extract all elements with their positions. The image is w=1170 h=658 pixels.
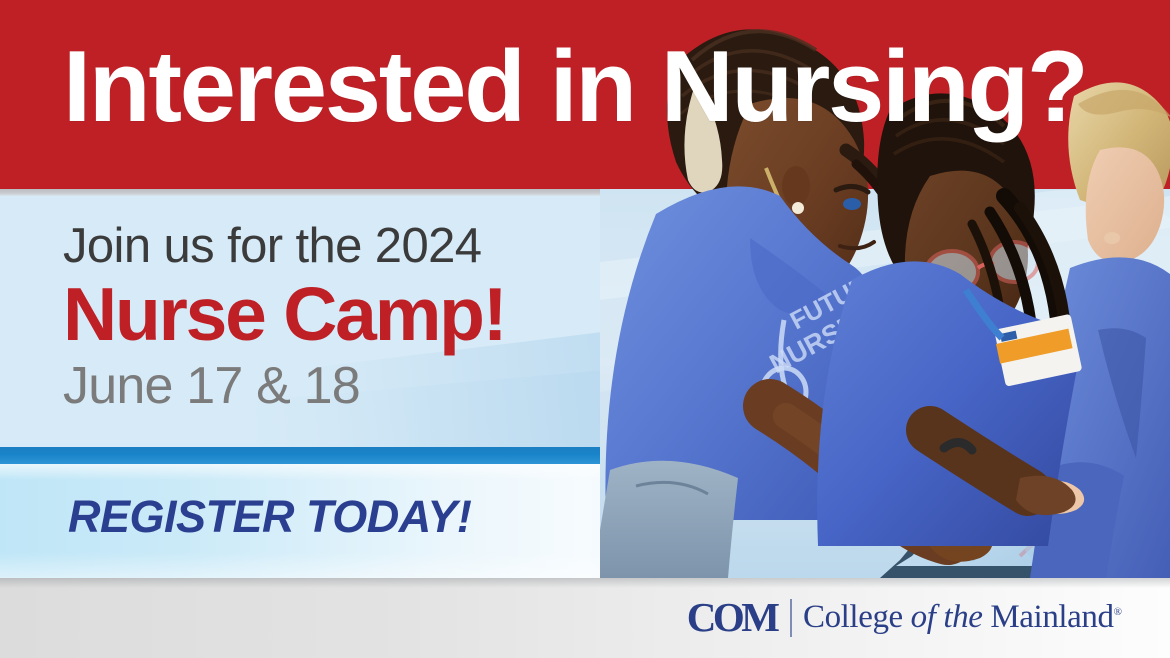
event-intro-line: Join us for the 2024 [63,222,506,271]
college-of-the-mainland-logo: COM College of the Mainland® [687,597,1122,638]
register-today-cta[interactable]: REGISTER TODAY! [68,491,471,543]
com-monogram: COM [687,597,777,638]
logo-wordmark: College of the Mainland® [803,601,1122,634]
page-title: Interested in Nursing? [63,34,1086,140]
logo-wordmark-mainland: Mainland [990,599,1113,635]
event-details: Join us for the 2024 Nurse Camp! June 17… [63,222,506,412]
logo-divider [790,599,792,637]
event-name: Nurse Camp! [63,277,506,352]
event-dates: June 17 & 18 [63,360,506,412]
footer-top-shadow [0,578,1170,588]
registered-trademark-icon: ® [1114,606,1122,618]
logo-wordmark-ofthe: of the [911,599,983,635]
logo-wordmark-college: College [803,599,903,635]
nurse-camp-promo-banner: FUTURE NURSE [0,0,1170,658]
